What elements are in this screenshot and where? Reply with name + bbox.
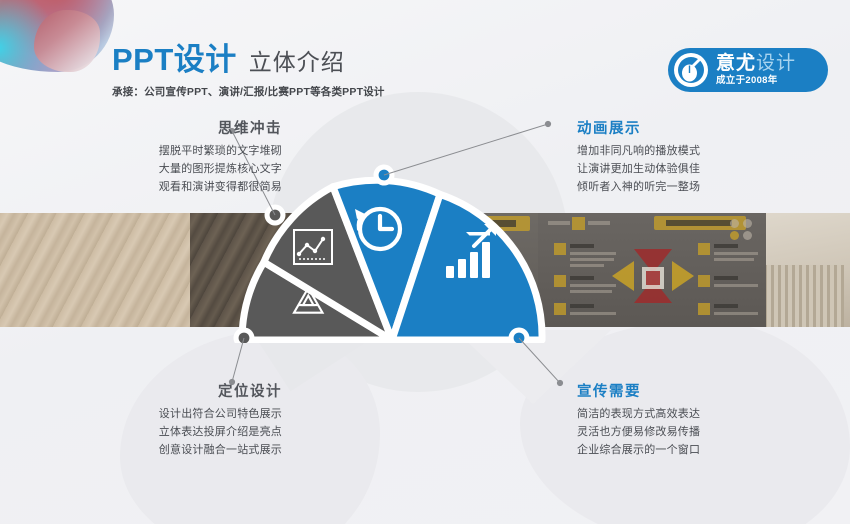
callout-line: 灵活也方便易修改易传播 — [577, 424, 789, 442]
callout-line: 设计出符合公司特色展示 — [70, 406, 282, 424]
page-title: PPT设计 — [112, 44, 237, 75]
callout-line: 倾听者入神的听完一整场 — [577, 179, 789, 197]
callout-title: 思维冲击 — [70, 122, 282, 138]
band-building-photo — [766, 213, 850, 327]
callout-line: 大量的图形提炼核心文字 — [70, 161, 282, 179]
callout-title: 宣传需要 — [577, 385, 789, 401]
page-subtitle: 立体介绍 — [249, 51, 345, 74]
page-description: 承接：公司宣传PPT、演讲/汇报/比赛PPT等各类PPT设计 — [112, 84, 385, 99]
brand-logo[interactable]: 意尤设计 成立于2008年 — [668, 48, 828, 92]
callout-title: 定位设计 — [70, 385, 282, 401]
callout-title: 动画展示 — [577, 122, 789, 138]
band-wood-texture — [0, 213, 190, 327]
title-rule — [104, 38, 107, 82]
logo-since: 成立于2008年 — [716, 76, 796, 86]
fan-node-top[interactable] — [374, 165, 395, 186]
callout-line: 摆脱平时繁琐的文字堆砌 — [70, 143, 282, 161]
callout-top-left: 思维冲击 摆脱平时繁琐的文字堆砌 大量的图形提炼核心文字 观看和演讲变得都很简易 — [70, 122, 282, 196]
slide-canvas: PPT设计 立体介绍 承接：公司宣传PPT、演讲/汇报/比赛PPT等各类PPT设… — [0, 0, 850, 524]
callout-line: 让演讲更加生动体验俱佳 — [577, 161, 789, 179]
callout-top-right: 动画展示 增加非同凡响的播放模式 让演讲更加生动体验俱佳 倾听者入神的听完一整场 — [577, 122, 789, 196]
callout-line: 观看和演讲变得都很简易 — [70, 179, 282, 197]
corner-gradient-blob-accent — [34, 10, 100, 72]
callout-bottom-left: 定位设计 设计出符合公司特色展示 立体表达投屏介绍是亮点 创意设计融合一站式展示 — [70, 385, 282, 459]
callout-line: 创意设计融合一站式展示 — [70, 442, 282, 460]
connector-bottom-left — [232, 338, 244, 382]
callout-bottom-right: 宣传需要 简洁的表现方式高效表达 灵活也方便易修改易传播 企业综合展示的一个窗口 — [577, 385, 789, 459]
logo-name-bold: 意尤 — [716, 53, 756, 74]
callout-line: 增加非同凡响的播放模式 — [577, 143, 789, 161]
connector-bottom-right — [519, 338, 560, 383]
callout-line: 企业综合展示的一个窗口 — [577, 442, 789, 460]
mouse-pen-icon — [674, 53, 708, 87]
callout-line: 简洁的表现方式高效表达 — [577, 406, 789, 424]
callout-line: 立体表达投屏介绍是亮点 — [70, 424, 282, 442]
logo-name: 意尤设计 — [716, 54, 796, 73]
logo-name-light: 设计 — [756, 53, 796, 74]
ppt-slide-thumbnail-2 — [538, 213, 766, 327]
slide-header: PPT设计 立体介绍 承接：公司宣传PPT、演讲/汇报/比赛PPT等各类PPT设… — [112, 44, 385, 99]
fan-node-upper-left[interactable] — [265, 205, 286, 226]
